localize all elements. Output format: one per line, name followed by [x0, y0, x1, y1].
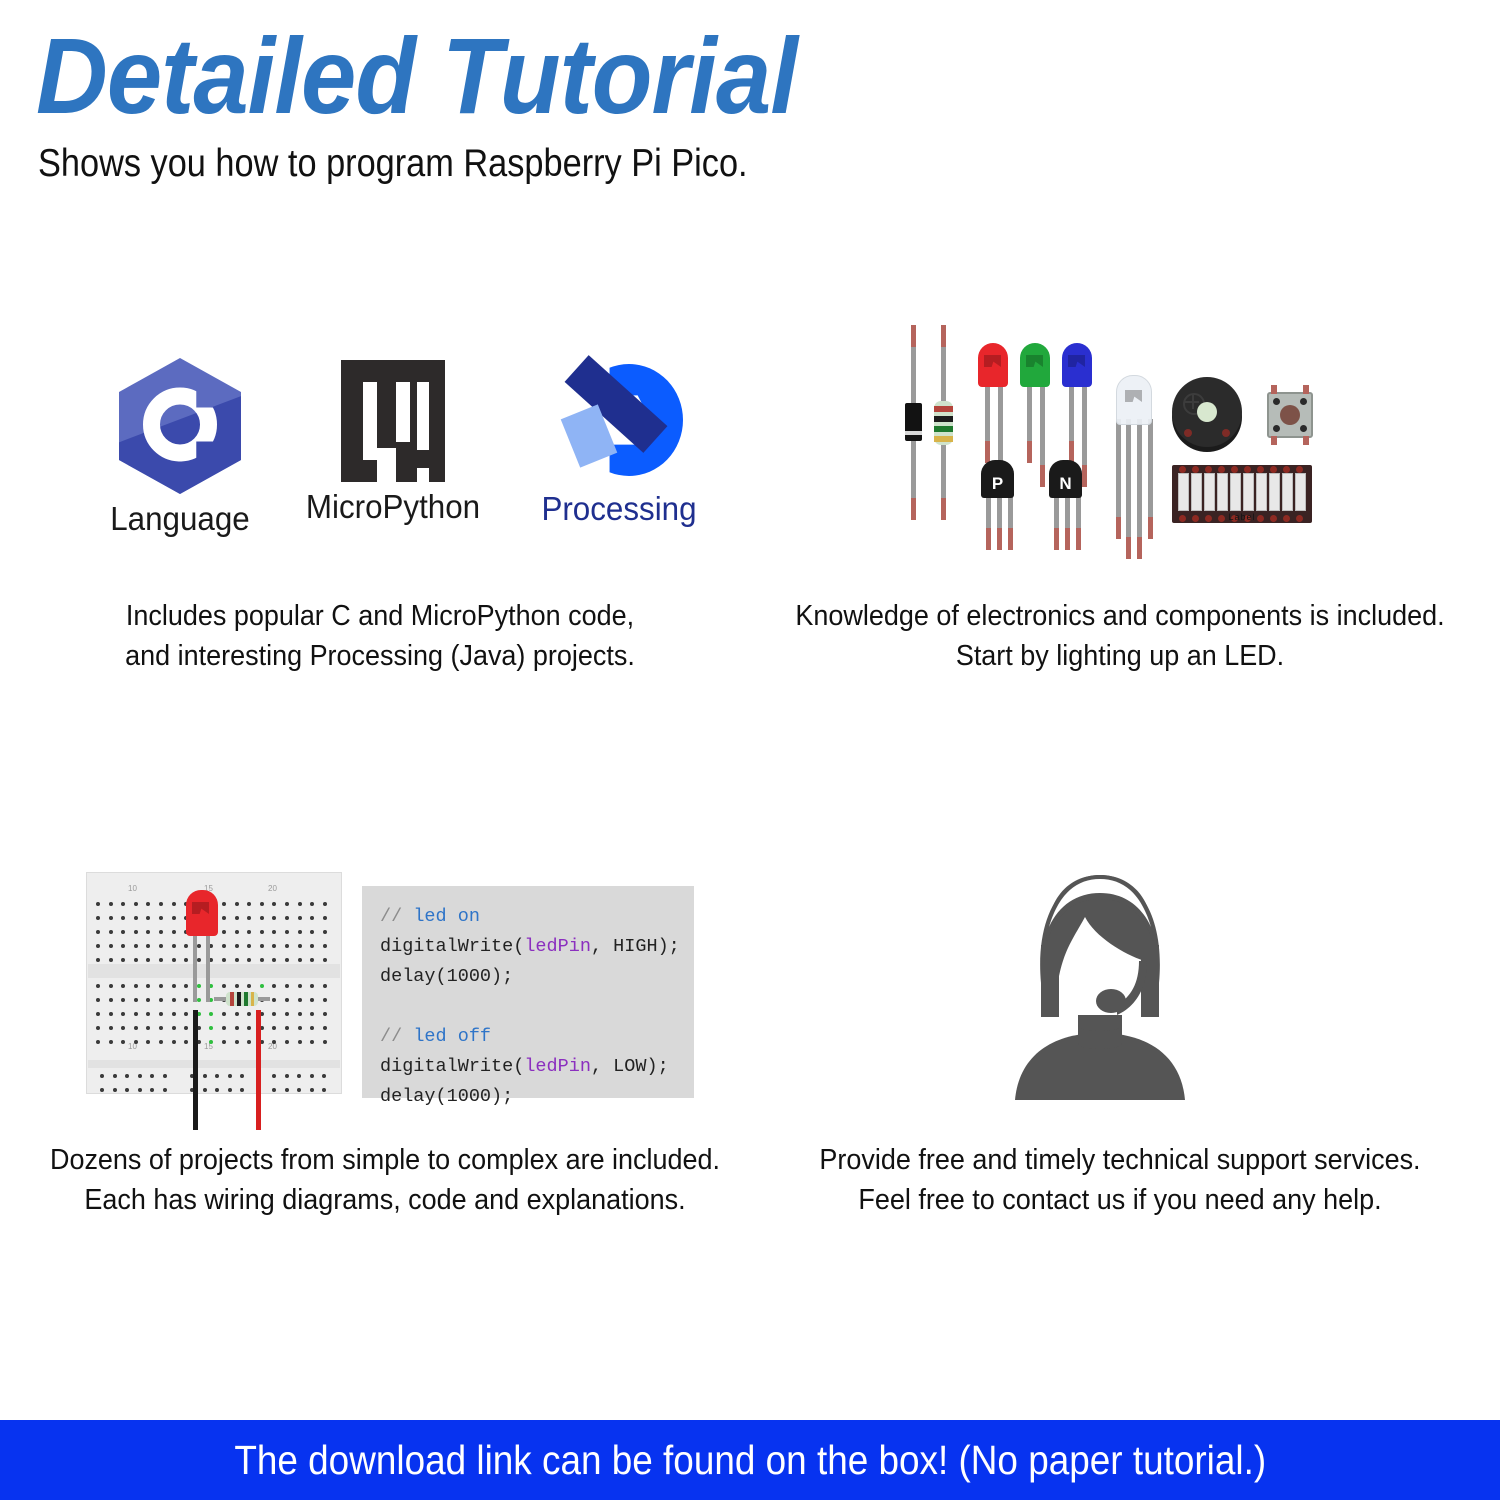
breadboard-hole	[222, 1012, 226, 1016]
code-line-5a: digitalWrite(	[380, 1056, 524, 1077]
led-bar-graph-icon: Label	[1172, 465, 1318, 529]
breadboard-hole	[159, 944, 163, 948]
breadboard-hole	[134, 958, 138, 962]
breadboard-hole	[96, 1040, 100, 1044]
page-subtitle: Shows you how to program Raspberry Pi Pi…	[38, 142, 748, 186]
code-comment-text-2: led off	[413, 1026, 491, 1047]
breadboard-hole	[323, 1040, 327, 1044]
download-link-banner-text: The download link can be found on the bo…	[234, 1437, 1266, 1484]
breadboard-hole	[323, 984, 327, 988]
page-title: Detailed Tutorial	[36, 22, 797, 130]
breadboard-hole	[109, 998, 113, 1002]
breadboard-hole	[235, 984, 239, 988]
breadboard-res-band-1	[230, 992, 234, 1006]
diode-cathode-band	[905, 431, 922, 435]
bargraph-segment-4	[1217, 473, 1228, 511]
bargraph-segment-10	[1295, 473, 1306, 511]
breadboard-resistor-body	[226, 992, 258, 1006]
breadboard-hole	[109, 916, 113, 920]
support-caption-line-2: Feel free to contact us if you need any …	[767, 1180, 1474, 1220]
breadboard-hole	[134, 998, 138, 1002]
bargraph-pin-t9	[1283, 466, 1290, 473]
red-led-die	[984, 355, 1001, 367]
breadboard-hole	[96, 1012, 100, 1016]
processing-logo	[553, 358, 685, 484]
breadboard-led-lead-1	[193, 930, 197, 1002]
breadboard-hole	[163, 1088, 167, 1092]
breadboard-hole	[285, 984, 289, 988]
diode-lead-tip-bottom	[911, 498, 916, 520]
bargraph-pin-t10	[1296, 466, 1303, 473]
breadboard-hole	[109, 902, 113, 906]
npn-transistor-body: N	[1049, 460, 1082, 498]
breadboard-hole	[197, 998, 201, 1002]
breadboard-hole	[96, 958, 100, 962]
breadboard-hole	[235, 1040, 239, 1044]
tactile-button-body	[1267, 392, 1313, 438]
breadboard-hole	[159, 902, 163, 906]
breadboard-hole	[172, 1040, 176, 1044]
breadboard-hole	[323, 998, 327, 1002]
projects-caption-line-1: Dozens of projects from simple to comple…	[27, 1140, 743, 1180]
buzzer-body	[1172, 377, 1242, 447]
breadboard-hole	[222, 916, 226, 920]
breadboard-black-wire	[193, 1010, 198, 1130]
breadboard-hole	[285, 1012, 289, 1016]
breadboard-hole	[285, 944, 289, 948]
breadboard-hole	[260, 944, 264, 948]
tactile-button-dome	[1280, 405, 1300, 425]
micropython-logo-label: MicroPython	[298, 488, 488, 526]
breadboard-col-label-top-20: 20	[268, 884, 277, 893]
resistor-band-1	[934, 406, 953, 412]
breadboard-hole	[323, 902, 327, 906]
components-caption-line-2: Start by lighting up an LED.	[767, 636, 1474, 676]
breadboard-hole	[298, 958, 302, 962]
green-led-tip-2	[1040, 465, 1045, 487]
breadboard-hole	[222, 958, 226, 962]
breadboard-led-lead-2	[206, 930, 210, 1002]
npn-transistor-icon: N	[1050, 460, 1090, 555]
mpy-slot-dot-under	[417, 468, 429, 482]
breadboard-hole	[298, 916, 302, 920]
breadboard-hole	[109, 958, 113, 962]
breadboard-hole	[138, 1088, 142, 1092]
breadboard-hole	[109, 984, 113, 988]
breadboard-hole	[235, 944, 239, 948]
code-line-2b-identifier: ledPin	[524, 936, 591, 957]
bargraph-segment-5	[1230, 473, 1241, 511]
rgb-tip-2	[1126, 537, 1131, 559]
breadboard-hole	[159, 1040, 163, 1044]
tactile-leg-3	[1271, 436, 1277, 445]
rgb-led-bulb	[1116, 375, 1152, 425]
bargraph-pin-t1	[1179, 466, 1186, 473]
breadboard-hole	[285, 930, 289, 934]
buzzer-sound-hole	[1197, 402, 1217, 422]
bargraph-pin-t5	[1231, 466, 1238, 473]
bargraph-label: Label	[1172, 512, 1312, 522]
mpy-slot-dot-gap	[417, 382, 429, 450]
breadboard-hole	[222, 984, 226, 988]
breadboard-hole	[298, 1026, 302, 1030]
diode-body	[905, 403, 922, 441]
breadboard-hole	[323, 930, 327, 934]
breadboard-hole	[109, 944, 113, 948]
breadboard-hole	[298, 902, 302, 906]
breadboard-col-label-top-10: 10	[128, 884, 137, 893]
breadboard-hole	[109, 1026, 113, 1030]
micropython-logo	[341, 360, 445, 482]
breadboard-hole	[228, 1074, 232, 1078]
breadboard-hole	[235, 1012, 239, 1016]
breadboard-hole	[134, 944, 138, 948]
c-language-logo	[119, 358, 241, 494]
breadboard-hole	[159, 984, 163, 988]
projects-caption-line-2: Each has wiring diagrams, code and expla…	[27, 1180, 743, 1220]
breadboard-hole	[298, 1012, 302, 1016]
tactile-leg-1	[1271, 385, 1277, 394]
rgb-tip-1	[1116, 517, 1121, 539]
pnp-tip-3	[1008, 528, 1013, 550]
breadboard-hole	[235, 958, 239, 962]
breadboard-hole	[298, 998, 302, 1002]
breadboard-hole	[298, 1040, 302, 1044]
components-caption: Knowledge of electronics and components …	[767, 596, 1474, 676]
breadboard-hole	[159, 1012, 163, 1016]
breadboard-hole	[260, 958, 264, 962]
pnp-tip-2	[997, 528, 1002, 550]
pnp-tip-1	[986, 528, 991, 550]
breadboard-hole	[298, 930, 302, 934]
code-line-2c: , HIGH);	[591, 936, 680, 957]
breadboard-hole	[272, 1088, 276, 1092]
diode-icon	[910, 325, 918, 520]
code-line-5b-identifier: ledPin	[524, 1056, 591, 1077]
breadboard-red-led	[186, 890, 220, 990]
breadboard-illustration: 10 15 20 10 15 20	[86, 872, 342, 1094]
breadboard-res-band-4	[251, 992, 254, 1006]
breadboard-hole	[172, 984, 176, 988]
breadboard-hole	[96, 998, 100, 1002]
bargraph-segment-3	[1204, 473, 1215, 511]
breadboard-hole	[235, 930, 239, 934]
breadboard-hole	[285, 1088, 289, 1092]
breadboard-hole	[323, 1026, 327, 1030]
code-line-5c: , LOW);	[591, 1056, 669, 1077]
bargraph-segment-6	[1243, 473, 1254, 511]
bargraph-segment-7	[1256, 473, 1267, 511]
breadboard-hole	[235, 916, 239, 920]
bargraph-pin-t6	[1244, 466, 1251, 473]
c-language-logo-label: Language	[99, 500, 261, 538]
breadboard-hole	[134, 930, 138, 934]
bargraph-pin-t2	[1192, 466, 1199, 473]
bargraph-segment-9	[1282, 473, 1293, 511]
bargraph-pin-t8	[1270, 466, 1277, 473]
breadboard-hole	[172, 930, 176, 934]
breadboard-hole	[159, 930, 163, 934]
languages-caption-line-2: and interesting Processing (Java) projec…	[27, 636, 734, 676]
breadboard-hole	[235, 902, 239, 906]
npn-tip-2	[1065, 528, 1070, 550]
breadboard-hole	[163, 1074, 167, 1078]
bargraph-segment-8	[1269, 473, 1280, 511]
breadboard-hole	[285, 916, 289, 920]
resistor-icon	[940, 325, 948, 520]
breadboard-hole	[298, 984, 302, 988]
components-caption-line-1: Knowledge of electronics and components …	[767, 596, 1474, 636]
breadboard-hole	[285, 958, 289, 962]
code-line-3: delay(1000);	[380, 966, 513, 987]
tactile-button-icon	[1262, 387, 1318, 443]
rgb-tip-4	[1148, 517, 1153, 539]
projects-caption: Dozens of projects from simple to comple…	[27, 1140, 743, 1220]
buzzer-icon	[1172, 377, 1248, 457]
pnp-transistor-body: P	[981, 460, 1014, 498]
breadboard-divider	[88, 1060, 340, 1068]
breadboard-hole	[113, 1074, 117, 1078]
languages-caption: Includes popular C and MicroPython code,…	[27, 596, 734, 676]
breadboard-hole	[222, 902, 226, 906]
breadboard-hole	[100, 1088, 104, 1092]
tactile-corner-2	[1300, 398, 1307, 405]
breadboard-res-band-2	[237, 992, 241, 1006]
breadboard-hole	[260, 916, 264, 920]
breadboard-hole	[159, 958, 163, 962]
buzzer-pin-2	[1222, 429, 1230, 437]
bargraph-pin-t3	[1205, 466, 1212, 473]
npn-tip-1	[1054, 528, 1059, 550]
breadboard-hole	[323, 1012, 327, 1016]
breadboard-hole	[172, 1012, 176, 1016]
breadboard-hole	[172, 902, 176, 906]
processing-logo-label: Processing	[524, 490, 714, 528]
tactile-corner-4	[1300, 425, 1307, 432]
green-led-die	[1026, 355, 1043, 367]
breadboard-hole	[222, 1026, 226, 1030]
bargraph-pin-t7	[1257, 466, 1264, 473]
breadboard-res-band-3	[244, 992, 248, 1006]
breadboard-hole	[310, 1074, 314, 1078]
bargraph-pin-t4	[1218, 466, 1225, 473]
mpy-slot-bottom	[377, 448, 396, 482]
mpy-slot-left	[363, 382, 377, 460]
breadboard-hole	[323, 944, 327, 948]
processing-logo-block: Processing	[519, 358, 719, 528]
breadboard-hole	[109, 930, 113, 934]
npn-tip-3	[1076, 528, 1081, 550]
breadboard-hole	[100, 1074, 104, 1078]
resistor-band-2	[934, 416, 953, 422]
rgb-led-die	[1125, 390, 1142, 402]
breadboard-led-die	[192, 902, 209, 914]
tactile-corner-3	[1273, 425, 1280, 432]
code-comment-slash-2: //	[380, 1026, 413, 1047]
rgb-led-icon	[1112, 375, 1158, 545]
code-line-2a: digitalWrite(	[380, 936, 524, 957]
blue-led-bulb	[1062, 343, 1092, 387]
code-comment-text-1: led on	[413, 906, 480, 927]
tactile-leg-4	[1303, 436, 1309, 445]
code-line-6: delay(1000);	[380, 1086, 513, 1107]
breadboard-hole	[109, 1012, 113, 1016]
breadboard-hole	[134, 902, 138, 906]
breadboard-hole	[235, 1026, 239, 1030]
buzzer-pin-1	[1184, 429, 1192, 437]
breadboard-hole	[96, 902, 100, 906]
language-logos-row: Language MicroPython Processing	[95, 358, 715, 538]
breadboard-resistor	[214, 992, 270, 1006]
green-led-bulb	[1020, 343, 1050, 387]
breadboard-hole	[172, 998, 176, 1002]
breadboard-hole	[134, 1040, 138, 1044]
breadboard-hole	[172, 916, 176, 920]
resistor-lead-tip-bottom	[941, 498, 946, 520]
breadboard-hole	[172, 958, 176, 962]
breadboard-hole	[323, 916, 327, 920]
electronic-components-illustration: P N	[890, 325, 1340, 555]
breadboard-hole	[260, 984, 264, 988]
breadboard-hole	[96, 944, 100, 948]
download-link-banner: The download link can be found on the bo…	[0, 1420, 1500, 1500]
bargraph-segment-2	[1191, 473, 1202, 511]
support-agent-illustration	[975, 865, 1225, 1100]
breadboard-hole	[222, 930, 226, 934]
breadboard-hole	[96, 930, 100, 934]
code-comment-slash-1: //	[380, 906, 413, 927]
breadboard-hole	[134, 1012, 138, 1016]
breadboard-hole	[285, 902, 289, 906]
breadboard-hole	[323, 958, 327, 962]
bargraph-segment-1	[1178, 473, 1189, 511]
resistor-band-4	[934, 436, 953, 442]
breadboard-hole	[96, 916, 100, 920]
breadboard-hole	[134, 984, 138, 988]
mpy-slot-right	[396, 382, 410, 442]
breadboard-hole	[222, 944, 226, 948]
breadboard-hole	[134, 916, 138, 920]
breadboard-hole	[113, 1088, 117, 1092]
code-snippet-block: // led on digitalWrite(ledPin, HIGH); de…	[362, 886, 694, 1098]
breadboard-hole	[285, 1040, 289, 1044]
breadboard-hole	[138, 1074, 142, 1078]
green-led-tip-1	[1027, 441, 1032, 463]
breadboard-hole	[310, 1088, 314, 1092]
breadboard-hole	[159, 916, 163, 920]
breadboard-hole	[109, 1040, 113, 1044]
breadboard-hole	[285, 998, 289, 1002]
breadboard-led-bulb	[186, 890, 218, 936]
resistor-body	[934, 401, 953, 445]
breadboard-hole	[172, 1026, 176, 1030]
breadboard-hole	[159, 998, 163, 1002]
tactile-corner-1	[1273, 398, 1280, 405]
breadboard-hole	[203, 1088, 207, 1092]
breadboard-hole	[228, 1088, 232, 1092]
breadboard-hole	[260, 930, 264, 934]
resistor-band-3	[934, 426, 953, 432]
blue-led-die	[1068, 355, 1085, 367]
breadboard-red-wire	[256, 1010, 261, 1130]
tactile-leg-2	[1303, 385, 1309, 394]
support-caption: Provide free and timely technical suppor…	[767, 1140, 1474, 1220]
breadboard-hole	[272, 1074, 276, 1078]
red-led-bulb	[978, 343, 1008, 387]
resistor-lead-tip-top	[941, 325, 946, 347]
rgb-tip-3	[1137, 537, 1142, 559]
breadboard-hole	[285, 1074, 289, 1078]
breadboard-hole	[260, 902, 264, 906]
led-bar-graph-body: Label	[1172, 465, 1312, 523]
breadboard-hole	[134, 1026, 138, 1030]
breadboard-hole	[172, 944, 176, 948]
breadboard-hole	[203, 1074, 207, 1078]
micropython-logo-block: MicroPython	[293, 360, 493, 526]
breadboard-hole	[298, 944, 302, 948]
breadboard-hole	[222, 1040, 226, 1044]
diode-lead-tip-top	[911, 325, 916, 347]
languages-caption-line-1: Includes popular C and MicroPython code,	[27, 596, 734, 636]
breadboard-hole	[285, 1026, 289, 1030]
breadboard-hole	[96, 1026, 100, 1030]
c-language-logo-block: Language	[95, 358, 265, 538]
pnp-transistor-icon: P	[982, 460, 1022, 555]
breadboard-hole	[159, 1026, 163, 1030]
breadboard-hole	[96, 984, 100, 988]
support-caption-line-1: Provide free and timely technical suppor…	[767, 1140, 1474, 1180]
support-agent-icon	[975, 865, 1225, 1100]
